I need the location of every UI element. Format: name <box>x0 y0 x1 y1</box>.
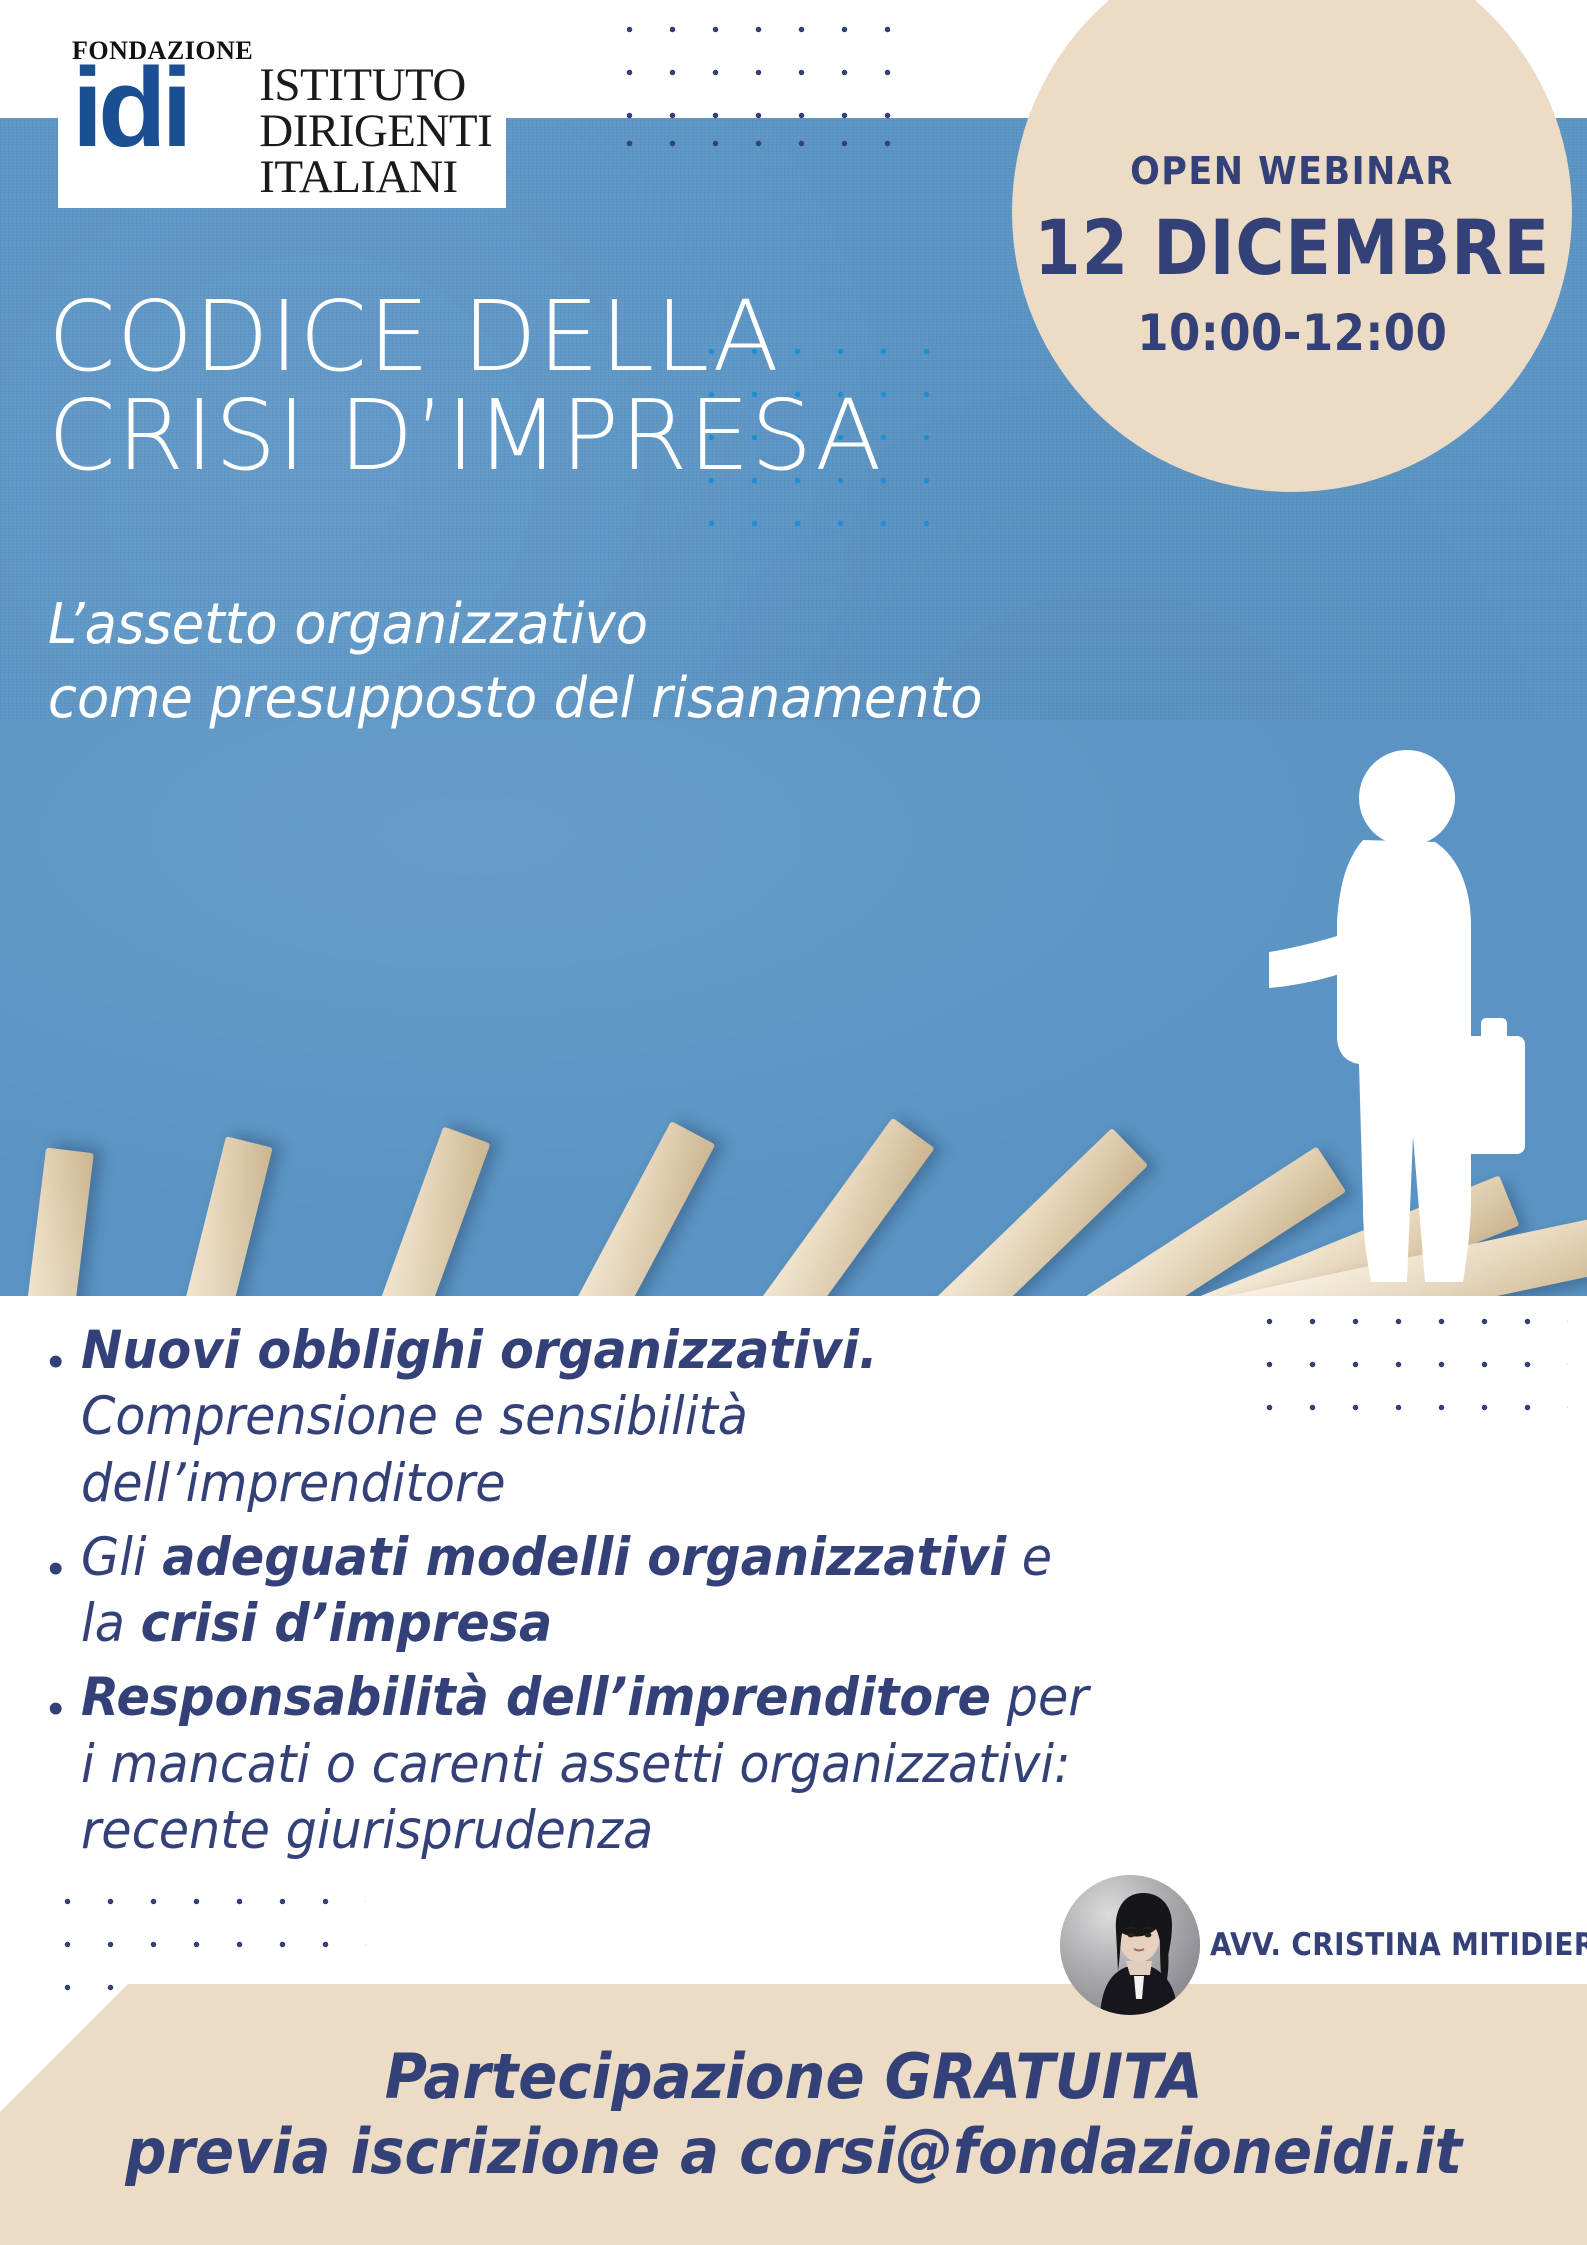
footer-line-1: Partecipazione GRATUITA <box>385 2040 1203 2114</box>
logo-word-italiani: ITALIANI <box>259 154 492 200</box>
list-item-text: Gli adeguati modelli organizzativi e la … <box>81 1525 1092 1658</box>
bullet-marker-icon: • <box>48 1340 63 1384</box>
badge-kicker: OPEN WEBINAR <box>1130 149 1454 193</box>
agenda-list: • Nuovi obblighi organizzativi. Comprens… <box>48 1318 1168 1872</box>
avatar <box>1060 1875 1200 2015</box>
list-item: • Responsabilità dell’imprenditore per i… <box>48 1665 1168 1864</box>
logo-idi-mark: idi <box>72 62 188 154</box>
logo-word-dirigenti: DIRIGENTI <box>259 108 492 154</box>
badge-time: 10:00-12:00 <box>1137 304 1447 362</box>
bullet-marker-icon: • <box>48 1687 63 1731</box>
speaker-name: AVV. CRISTINA MITIDIERI <box>1210 1927 1587 1963</box>
subtitle-line-1: L’assetto organizzativo <box>48 588 982 662</box>
footer-cta: Partecipazione GRATUITA previa iscrizion… <box>0 1984 1587 2245</box>
avatar-portrait <box>1060 1875 1200 2015</box>
logo-idi: FONDAZIONE idi ISTITUTO DIRIGENTI ITALIA… <box>58 28 506 208</box>
list-item-lead: Responsabilità dell’imprenditore <box>81 1667 991 1728</box>
speaker-credit: AVV. CRISTINA MITIDIERI <box>1060 1875 1587 2015</box>
title-line-1: CODICE DELLA <box>48 288 882 387</box>
logo-word-istituto: ISTITUTO <box>259 62 492 108</box>
list-item-emph-2: crisi d’impresa <box>141 1593 553 1654</box>
list-item-rest: Comprensione e sensibilità dell’imprendi… <box>81 1386 748 1513</box>
domino-illustration <box>0 720 1587 1296</box>
dot-grid-right-bullets <box>1248 1300 1568 1425</box>
list-item: • Nuovi obblighi organizzativi. Comprens… <box>48 1318 1168 1517</box>
list-item-text: Responsabilità dell’imprenditore per i m… <box>81 1665 1092 1864</box>
dot-grid-top-blue <box>608 122 908 174</box>
subtitle-line-2: come presupposto del risanamento <box>48 662 982 736</box>
page-title: CODICE DELLA CRISI D’IMPRESA <box>48 288 882 486</box>
page-subtitle: L’assetto organizzativo come presupposto… <box>48 588 982 736</box>
poster-root: FONDAZIONE idi ISTITUTO DIRIGENTI ITALIA… <box>0 0 1587 2245</box>
title-line-2: CRISI D’IMPRESA <box>48 387 882 486</box>
bullet-marker-icon: • <box>48 1547 63 1591</box>
badge-date: 12 DICEMBRE <box>1034 203 1550 292</box>
businessman-silhouette <box>1267 736 1527 1296</box>
list-item-lead: Nuovi obblighi organizzativi. <box>81 1320 878 1381</box>
footer-line-2: previa iscrizione a corsi@fondazioneidi.… <box>125 2115 1462 2189</box>
logo-left-stack: FONDAZIONE idi <box>72 38 253 154</box>
list-item: • Gli adeguati modelli organizzativi e l… <box>48 1525 1168 1658</box>
list-item-text: Nuovi obblighi organizzativi. Comprensio… <box>81 1318 1092 1517</box>
list-item-emph-1: adeguati modelli organizzativi <box>163 1527 1007 1588</box>
logo-wordmark: ISTITUTO DIRIGENTI ITALIANI <box>259 62 492 200</box>
